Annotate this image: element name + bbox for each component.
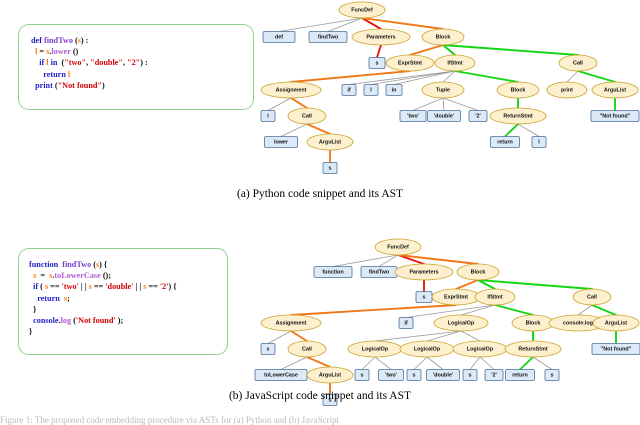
- ast-node[interactable]: findTwo: [361, 267, 397, 278]
- ast-node-label: ArguList: [319, 372, 341, 378]
- ast-node-label: IfStmt: [487, 294, 502, 300]
- ast-nodes: FuncDeffunctionfindTwoParametersBlocksEx…: [255, 239, 640, 406]
- ast-node-label: toLowerCase: [264, 372, 298, 378]
- ast-edge: [461, 305, 495, 315]
- ast-node-label: 'two': [385, 372, 397, 378]
- ast-node-label: ArguList: [605, 320, 627, 326]
- ast-node-label: Block: [526, 320, 541, 326]
- ast-edge: [461, 331, 480, 341]
- ast-node-label: FuncDef: [387, 244, 409, 250]
- ast-node-label: Assignment: [276, 320, 307, 326]
- ast-node[interactable]: Call: [288, 341, 326, 357]
- ast-node[interactable]: s: [463, 370, 477, 381]
- ast-node[interactable]: LogicalOp: [348, 341, 402, 357]
- ast-node[interactable]: ArguList: [307, 367, 353, 383]
- caption-b: (b) JavaScript code snippet and its AST: [0, 390, 640, 402]
- ast-node-label: "Not found": [601, 346, 632, 352]
- ast-node[interactable]: return: [506, 370, 535, 381]
- ast-edge: [307, 357, 330, 367]
- ast-node-label: s: [267, 346, 270, 352]
- ast-node-label: LogicalOp: [448, 320, 475, 326]
- ast-edge: [480, 357, 494, 370]
- ast-edge: [456, 280, 478, 289]
- ast-node[interactable]: 'two': [379, 370, 404, 381]
- ast-node[interactable]: ArguList: [593, 315, 639, 331]
- ast-node[interactable]: Call: [573, 289, 611, 305]
- ast-node[interactable]: '2': [485, 370, 503, 381]
- ast-node-label: findTwo: [369, 269, 390, 275]
- ast-node-label: s: [413, 372, 416, 378]
- ast-edge: [470, 357, 480, 370]
- ast-node[interactable]: s: [416, 292, 432, 303]
- ast-node[interactable]: s: [545, 370, 559, 381]
- ast-edge: [291, 305, 456, 315]
- ast-node-label: function: [322, 269, 343, 275]
- ast-edge: [495, 305, 533, 315]
- ast-node-label: LogicalOp: [414, 346, 441, 352]
- ast-node-label: return: [512, 372, 528, 378]
- ast-node-label: console.log: [563, 320, 593, 326]
- ast-edge: [427, 357, 443, 370]
- figure-page: def findTwo (s) : l = s.lower () if l in…: [0, 0, 640, 422]
- ast-edge: [268, 331, 291, 344]
- ast-node[interactable]: LogicalOp: [434, 315, 488, 331]
- ast-node-label: LogicalOp: [467, 346, 494, 352]
- ast-node[interactable]: function: [314, 267, 352, 278]
- ast-node-label: Call: [587, 294, 597, 300]
- figure-bottom-caption: Figure 1: The proposed code embedding pr…: [0, 415, 640, 425]
- js-ast-tree: FuncDeffunctionfindTwoParametersBlocksEx…: [0, 0, 640, 422]
- ast-node[interactable]: LogicalOp: [400, 341, 454, 357]
- ast-node-label: ExprStmt: [444, 294, 468, 300]
- ast-node[interactable]: 'double': [427, 370, 460, 381]
- ast-node[interactable]: FuncDef: [375, 239, 421, 255]
- ast-node-label: LogicalOp: [362, 346, 389, 352]
- ast-node-label: if: [404, 320, 407, 326]
- ast-edge: [375, 357, 391, 370]
- ast-node[interactable]: Block: [457, 264, 499, 280]
- ast-edge: [592, 305, 616, 315]
- ast-node[interactable]: IfStmt: [475, 289, 515, 305]
- ast-node-label: s: [423, 294, 426, 300]
- ast-edge: [414, 357, 427, 370]
- ast-node[interactable]: Parameters: [395, 264, 453, 280]
- ast-node-label: Block: [471, 269, 486, 275]
- ast-node-label: Parameters: [409, 269, 438, 275]
- ast-node-label: '2': [491, 372, 497, 378]
- ast-node[interactable]: LogicalOp: [453, 341, 507, 357]
- ast-node[interactable]: ReturnStmt: [505, 341, 561, 357]
- ast-node[interactable]: Assignment: [261, 315, 321, 331]
- ast-node[interactable]: s: [261, 344, 275, 355]
- ast-edge: [291, 331, 307, 341]
- ast-edge: [578, 305, 592, 315]
- ast-node[interactable]: toLowerCase: [255, 370, 307, 381]
- ast-node[interactable]: s: [407, 370, 421, 381]
- ast-node-label: s: [469, 372, 472, 378]
- ast-node-label: 'double': [433, 372, 453, 378]
- ast-edge: [281, 357, 307, 370]
- ast-edge: [520, 357, 533, 370]
- ast-node[interactable]: Block: [512, 315, 554, 331]
- ast-node[interactable]: ExprStmt: [432, 289, 480, 305]
- ast-edge: [427, 331, 461, 341]
- ast-node-label: ReturnStmt: [518, 346, 548, 352]
- ast-node-label: s: [361, 372, 364, 378]
- ast-edge: [533, 357, 552, 370]
- ast-node-label: Call: [302, 346, 312, 352]
- ast-node[interactable]: s: [355, 370, 369, 381]
- ast-node[interactable]: "Not found": [592, 344, 640, 355]
- ast-edge: [478, 280, 592, 289]
- ast-node-label: s: [551, 372, 554, 378]
- ast-edge: [375, 331, 461, 341]
- ast-edge: [362, 357, 375, 370]
- ast-node[interactable]: if: [399, 318, 413, 329]
